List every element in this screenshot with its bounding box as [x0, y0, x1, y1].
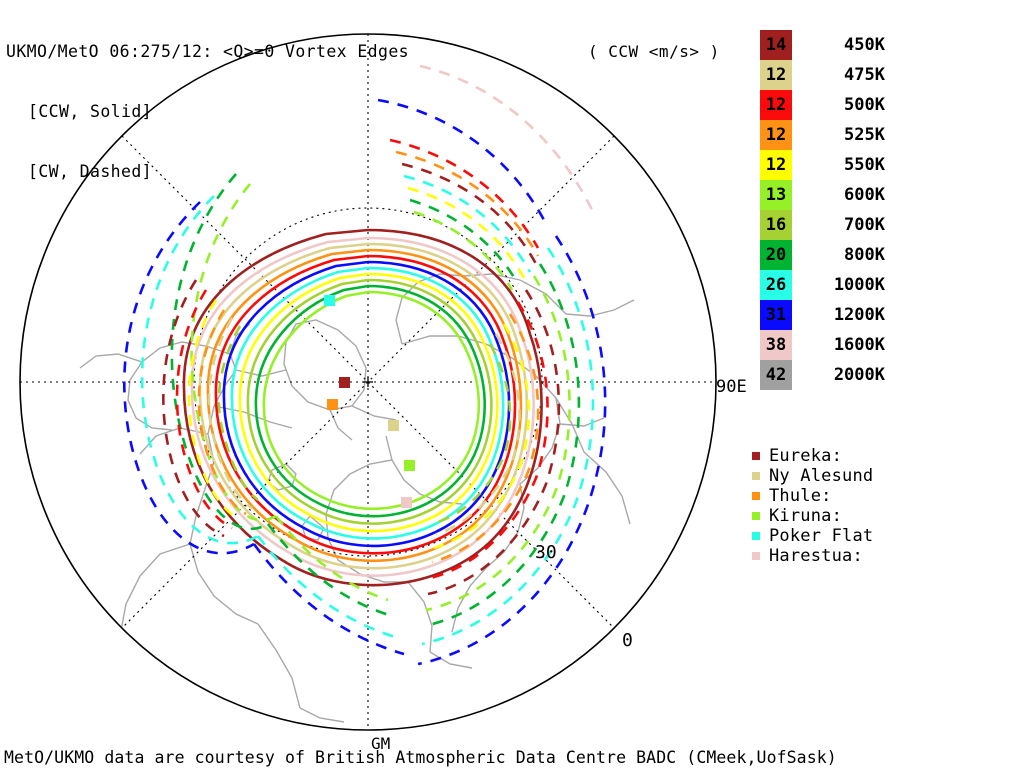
colorbar-label: 450K — [801, 35, 885, 55]
colorbar-value: 26 — [766, 277, 786, 294]
colorbar-swatch-525k: 12 — [760, 120, 792, 150]
colorbar-swatch-600k: 13 — [760, 180, 792, 210]
station-swatch-nyalesund — [752, 472, 760, 480]
colorbar-swatch-500k: 12 — [760, 90, 792, 120]
station-swatch-thule — [752, 492, 760, 500]
colorbar-value: 42 — [766, 367, 786, 384]
station-label: Poker Flat — [769, 526, 873, 546]
colorbar-label: 800K — [801, 245, 885, 265]
colorbar-swatch-1600k: 38 — [760, 330, 792, 360]
colorbar-row: 16700K — [760, 210, 885, 240]
colorbar-value: 16 — [766, 217, 786, 234]
colorbar-label: 525K — [801, 125, 885, 145]
colorbar-label: 700K — [801, 215, 885, 235]
station-label: Kiruna: — [769, 506, 842, 526]
colorbar-label: 600K — [801, 185, 885, 205]
longitude-label-90e: 90E — [716, 377, 747, 397]
colorbar-value: 14 — [766, 37, 786, 54]
station-legend-row: Harestua: — [752, 546, 873, 566]
colorbar-label: 1000K — [801, 275, 885, 295]
colorbar-row: 12525K — [760, 120, 885, 150]
station-swatch-pokerflat — [752, 532, 760, 540]
colorbar-label: 475K — [801, 65, 885, 85]
colorbar-label: 1200K — [801, 305, 885, 325]
title-legend-ccw: [CCW, Solid] — [6, 102, 409, 122]
colorbar-label: 500K — [801, 95, 885, 115]
colorbar-header: ( CCW <m/s> ) — [588, 42, 720, 61]
colorbar-swatch-1000k: 26 — [760, 270, 792, 300]
colorbar-swatch-800k: 20 — [760, 240, 792, 270]
colorbar-row: 14450K — [760, 30, 885, 60]
colorbar-row: 422000K — [760, 360, 885, 390]
station-legend-row: Thule: — [752, 486, 873, 506]
page-title: UKMO/MetO 06:275/12: <Q>=0 Vortex Edges — [6, 42, 409, 62]
station-marker-poker-flat — [324, 295, 335, 306]
title-legend-cw: [CW, Dashed] — [6, 162, 409, 182]
colorbar-label: 1600K — [801, 335, 885, 355]
station-legend-row: Kiruna: — [752, 506, 873, 526]
latitude-label-30: 30 — [535, 542, 557, 563]
colorbar-row: 261000K — [760, 270, 885, 300]
colorbar-row: 311200K — [760, 300, 885, 330]
colorbar-value: 38 — [766, 337, 786, 354]
station-marker-harestua — [401, 497, 412, 508]
colorbar-row: 12500K — [760, 90, 885, 120]
station-legend-row: Ny Alesund — [752, 466, 873, 486]
colorbar-value: 12 — [766, 127, 786, 144]
station-label: Ny Alesund — [769, 466, 873, 486]
colorbar-value: 12 — [766, 157, 786, 174]
colorbar-value: 31 — [766, 307, 786, 324]
station-legend-row: Eureka: — [752, 446, 873, 466]
colorbar-row: 13600K — [760, 180, 885, 210]
colorbar-value: 12 — [766, 67, 786, 84]
figure-title-block: UKMO/MetO 06:275/12: <Q>=0 Vortex Edges … — [6, 2, 409, 222]
station-legend: Eureka:Ny AlesundThule:Kiruna:Poker Flat… — [752, 446, 873, 566]
station-marker-ny-alesund — [388, 420, 399, 431]
station-swatch-eureka — [752, 452, 760, 460]
station-marker-kiruna — [404, 460, 415, 471]
colorbar-value: 13 — [766, 187, 786, 204]
footer-credit: MetO/UKMO data are courtesy of British A… — [4, 748, 837, 767]
station-marker-eureka — [339, 377, 350, 388]
station-label: Harestua: — [769, 546, 863, 566]
colorbar-row: 12475K — [760, 60, 885, 90]
figure-canvas: UKMO/MetO 06:275/12: <Q>=0 Vortex Edges … — [0, 0, 1016, 768]
colorbar-row: 381600K — [760, 330, 885, 360]
colorbar-swatch-2000k: 42 — [760, 360, 792, 390]
station-swatch-harestua — [752, 552, 760, 560]
colorbar-value: 20 — [766, 247, 786, 264]
colorbar-row: 12550K — [760, 150, 885, 180]
ccw-solid-contours — [184, 230, 542, 585]
colorbar-swatch-550k: 12 — [760, 150, 792, 180]
colorbar-swatch-700k: 16 — [760, 210, 792, 240]
station-label: Eureka: — [769, 446, 842, 466]
colorbar-row: 20800K — [760, 240, 885, 270]
colorbar-swatch-450k: 14 — [760, 30, 792, 60]
colorbar-legend: 14450K12475K12500K12525K12550K13600K1670… — [760, 30, 885, 390]
colorbar-label: 2000K — [801, 365, 885, 385]
station-swatch-kiruna — [752, 512, 760, 520]
colorbar-label: 550K — [801, 155, 885, 175]
colorbar-swatch-475k: 12 — [760, 60, 792, 90]
longitude-label-0: 0 — [622, 630, 633, 651]
colorbar-value: 12 — [766, 97, 786, 114]
coastlines-layer — [80, 274, 634, 722]
station-marker-thule — [327, 399, 338, 410]
station-label: Thule: — [769, 486, 832, 506]
colorbar-swatch-1200k: 31 — [760, 300, 792, 330]
station-legend-row: Poker Flat — [752, 526, 873, 546]
